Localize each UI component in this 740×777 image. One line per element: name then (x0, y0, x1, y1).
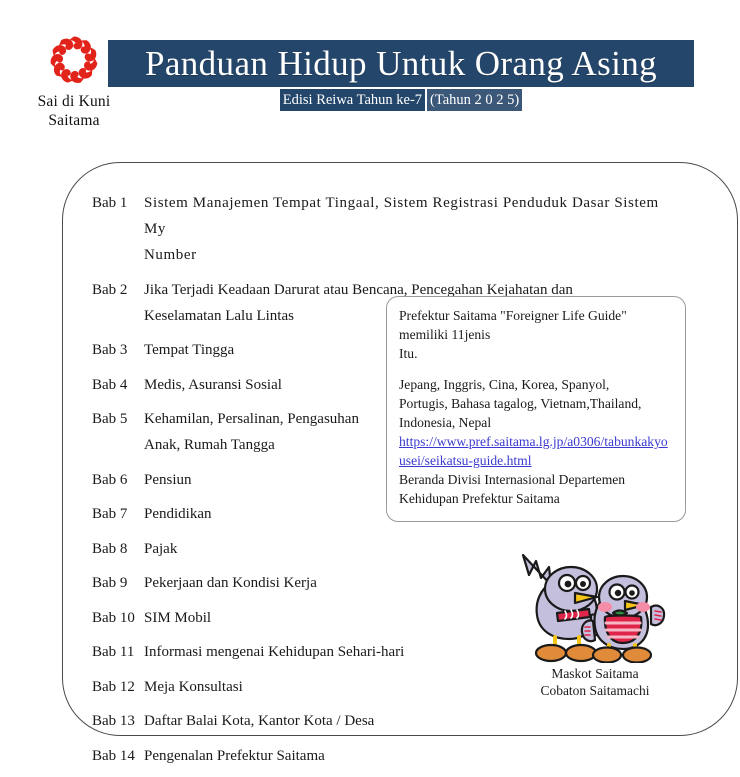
chapter-title: Pensiun (144, 467, 192, 493)
chapter-number: Bab 1 (92, 193, 144, 213)
chapter-title: Medis, Asuransi Sosial (144, 372, 282, 398)
chapter-title-text: Pengenalan Prefektur Saitama (144, 748, 325, 764)
chapter-number: Bab 14 (92, 746, 144, 766)
chapter-title-text: Pekerjaan dan Kondisi Kerja (144, 575, 317, 591)
chapter-title-text: Informasi mengenai Kehidupan Sehari-hari (144, 644, 404, 660)
chapter-number: Bab 4 (92, 375, 144, 395)
chapter-title-text: SIM Mobil (144, 610, 211, 626)
chapter-title-text: Pajak (144, 541, 177, 557)
chapter-title: Pendidikan (144, 501, 212, 527)
info-line-6: Indonesia, Nepal (399, 413, 673, 432)
chapter-number: Bab 5 (92, 409, 144, 429)
chapter-title-text: Daftar Balai Kota, Kantor Kota / Desa (144, 713, 374, 729)
info-line-5: Portugis, Bahasa tagalog, Vietnam,Thaila… (399, 394, 673, 413)
subtitle-year: (Tahun 2 0 2 5) (427, 89, 522, 111)
chapter-title: Meja Konsultasi (144, 674, 243, 700)
chapter-title: Pengenalan Prefektur Saitama (144, 743, 325, 769)
logo-caption-line2: Saitama (18, 111, 130, 130)
chapter-number: Bab 13 (92, 711, 144, 731)
info-spacer (399, 363, 673, 375)
chapter-title: SIM Mobil (144, 605, 211, 631)
chapter-title: Pajak (144, 536, 177, 562)
chapter-number: Bab 11 (92, 642, 144, 662)
info-line-8: Kehidupan Prefektur Saitama (399, 489, 673, 508)
chapter-title-text: Pendidikan (144, 506, 212, 522)
page-title: Panduan Hidup Untuk Orang Asing (145, 46, 657, 81)
page-header: Sai di Kuni Saitama Panduan Hidup Untuk … (0, 0, 740, 150)
chapter-title: Daftar Balai Kota, Kantor Kota / Desa (144, 708, 374, 734)
document-title-banner: Panduan Hidup Untuk Orang Asing (108, 40, 694, 87)
mascot-caption-line2: Cobaton Saitamachi (505, 682, 685, 699)
info-line-1: Prefektur Saitama "Foreigner Life Guide" (399, 306, 673, 325)
info-box: Prefektur Saitama "Foreigner Life Guide"… (386, 296, 686, 522)
chapter-number: Bab 2 (92, 280, 144, 300)
chapter-title: Tempat Tingga (144, 337, 234, 363)
chapter-title: Sistem Manajemen Tempat Tingaal, Sistem … (144, 190, 682, 268)
chapter-title: Informasi mengenai Kehidupan Sehari-hari (144, 639, 404, 665)
chapter-number: Bab 10 (92, 608, 144, 628)
mascot-caption: Maskot Saitama Cobaton Saitamachi (505, 665, 685, 699)
chapter-row[interactable]: Bab 1Sistem Manajemen Tempat Tingaal, Si… (92, 190, 682, 268)
mascot-block: Maskot Saitama Cobaton Saitamachi (505, 545, 685, 699)
chapter-number: Bab 7 (92, 504, 144, 524)
chapter-number: Bab 6 (92, 470, 144, 490)
info-line-7: Beranda Divisi Internasional Departemen (399, 470, 673, 489)
chapter-title-continuation: Number (144, 242, 682, 268)
chapter-number: Bab 12 (92, 677, 144, 697)
chapter-row[interactable]: Bab 13Daftar Balai Kota, Kantor Kota / D… (92, 708, 682, 734)
saitama-flower-ring-icon (46, 32, 102, 88)
chapter-title: Pekerjaan dan Kondisi Kerja (144, 570, 317, 596)
chapter-title-text: Meja Konsultasi (144, 679, 243, 695)
chapter-number: Bab 3 (92, 340, 144, 360)
chapter-title-text: Tempat Tingga (144, 342, 234, 358)
info-line-2: memiliki 11jenis (399, 325, 673, 344)
chapter-title-text: Kehamilan, Persalinan, Pengasuhan (144, 411, 359, 427)
subtitle-row: Edisi Reiwa Tahun ke-7 (Tahun 2 0 2 5) (108, 89, 694, 111)
chapter-title-text: Sistem Manajemen Tempat Tingaal, Sistem … (144, 195, 659, 237)
mascot-caption-line1: Maskot Saitama (505, 665, 685, 682)
subtitle-edition: Edisi Reiwa Tahun ke-7 (280, 89, 425, 111)
chapter-number: Bab 9 (92, 573, 144, 593)
chapter-number: Bab 8 (92, 539, 144, 559)
guide-url-link[interactable]: https://www.pref.saitama.lg.jp/a0306/tab… (399, 432, 673, 470)
info-line-3: Itu. (399, 344, 673, 363)
chapter-row[interactable]: Bab 14Pengenalan Prefektur Saitama (92, 743, 682, 769)
kobaton-birds-icon (505, 545, 685, 663)
info-line-4: Jepang, Inggris, Cina, Korea, Spanyol, (399, 375, 673, 394)
chapter-title-text: Medis, Asuransi Sosial (144, 377, 282, 393)
chapter-title-text: Pensiun (144, 472, 192, 488)
